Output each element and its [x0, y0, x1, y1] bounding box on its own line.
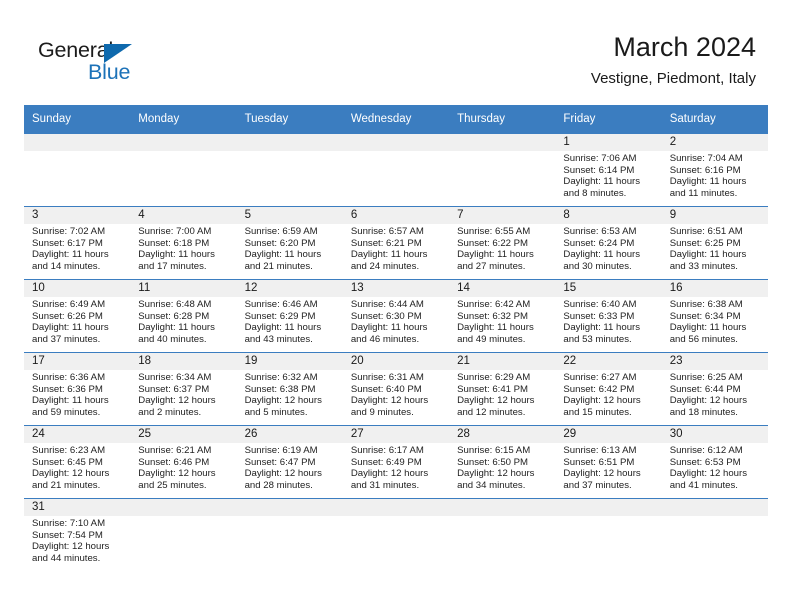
- day-cell-inner: 5Sunrise: 6:59 AMSunset: 6:20 PMDaylight…: [237, 207, 343, 279]
- calendar-day-cell[interactable]: 28Sunrise: 6:15 AMSunset: 6:50 PMDayligh…: [449, 426, 555, 499]
- sunset-text: Sunset: 6:41 PM: [457, 384, 549, 396]
- day-sun-info: Sunrise: 6:19 AMSunset: 6:47 PMDaylight:…: [237, 443, 343, 491]
- day-number: 13: [343, 280, 449, 297]
- sunrise-text: Sunrise: 6:34 AM: [138, 372, 230, 384]
- day-sun-info: Sunrise: 7:00 AMSunset: 6:18 PMDaylight:…: [130, 224, 236, 272]
- sunrise-text: Sunrise: 6:13 AM: [563, 445, 655, 457]
- day-cell-inner: 4Sunrise: 7:00 AMSunset: 6:18 PMDaylight…: [130, 207, 236, 279]
- day-sun-info: Sunrise: 6:34 AMSunset: 6:37 PMDaylight:…: [130, 370, 236, 418]
- calendar-day-cell[interactable]: 31Sunrise: 7:10 AMSunset: 7:54 PMDayligh…: [24, 499, 130, 572]
- sunrise-text: Sunrise: 6:40 AM: [563, 299, 655, 311]
- day-sun-info: Sunrise: 6:46 AMSunset: 6:29 PMDaylight:…: [237, 297, 343, 345]
- weekday-header-saturday: Saturday: [662, 105, 768, 134]
- calendar-day-cell[interactable]: 8Sunrise: 6:53 AMSunset: 6:24 PMDaylight…: [555, 207, 661, 280]
- day-cell-inner: 27Sunrise: 6:17 AMSunset: 6:49 PMDayligh…: [343, 426, 449, 498]
- calendar-day-cell[interactable]: 9Sunrise: 6:51 AMSunset: 6:25 PMDaylight…: [662, 207, 768, 280]
- day-cell-inner: 31Sunrise: 7:10 AMSunset: 7:54 PMDayligh…: [24, 499, 130, 571]
- day-number: 31: [24, 499, 130, 516]
- calendar-day-cell[interactable]: 16Sunrise: 6:38 AMSunset: 6:34 PMDayligh…: [662, 280, 768, 353]
- sunrise-text: Sunrise: 6:59 AM: [245, 226, 337, 238]
- day-sun-info: Sunrise: 7:10 AMSunset: 7:54 PMDaylight:…: [24, 516, 130, 564]
- day-cell-inner: 25Sunrise: 6:21 AMSunset: 6:46 PMDayligh…: [130, 426, 236, 498]
- calendar-day-cell-empty: [662, 499, 768, 572]
- weekday-header-thursday: Thursday: [449, 105, 555, 134]
- calendar-day-cell[interactable]: 3Sunrise: 7:02 AMSunset: 6:17 PMDaylight…: [24, 207, 130, 280]
- calendar-day-cell[interactable]: 30Sunrise: 6:12 AMSunset: 6:53 PMDayligh…: [662, 426, 768, 499]
- calendar-day-cell[interactable]: 23Sunrise: 6:25 AMSunset: 6:44 PMDayligh…: [662, 353, 768, 426]
- sunset-text: Sunset: 6:49 PM: [351, 457, 443, 469]
- day-number: 17: [24, 353, 130, 370]
- day-sun-info: Sunrise: 6:13 AMSunset: 6:51 PMDaylight:…: [555, 443, 661, 491]
- day-sun-info: Sunrise: 6:48 AMSunset: 6:28 PMDaylight:…: [130, 297, 236, 345]
- sunrise-text: Sunrise: 6:38 AM: [670, 299, 762, 311]
- brand-logo[interactable]: General Blue: [38, 38, 218, 90]
- day-sun-info: Sunrise: 6:59 AMSunset: 6:20 PMDaylight:…: [237, 224, 343, 272]
- day-number: 1: [555, 134, 661, 151]
- sunset-text: Sunset: 6:50 PM: [457, 457, 549, 469]
- sunset-text: Sunset: 6:37 PM: [138, 384, 230, 396]
- sunrise-text: Sunrise: 6:21 AM: [138, 445, 230, 457]
- day-cell-inner: 2Sunrise: 7:04 AMSunset: 6:16 PMDaylight…: [662, 134, 768, 206]
- sunrise-text: Sunrise: 6:27 AM: [563, 372, 655, 384]
- day-sun-info: Sunrise: 6:23 AMSunset: 6:45 PMDaylight:…: [24, 443, 130, 491]
- day-sun-info: Sunrise: 6:38 AMSunset: 6:34 PMDaylight:…: [662, 297, 768, 345]
- day-number: 8: [555, 207, 661, 224]
- day-sun-info: Sunrise: 6:55 AMSunset: 6:22 PMDaylight:…: [449, 224, 555, 272]
- sunrise-text: Sunrise: 7:00 AM: [138, 226, 230, 238]
- day-cell-inner: [343, 134, 449, 206]
- daylight-text: Daylight: 12 hours and 5 minutes.: [245, 395, 337, 418]
- day-sun-info: Sunrise: 6:32 AMSunset: 6:38 PMDaylight:…: [237, 370, 343, 418]
- day-number: 18: [130, 353, 236, 370]
- sunrise-text: Sunrise: 6:57 AM: [351, 226, 443, 238]
- calendar-week-row: 3Sunrise: 7:02 AMSunset: 6:17 PMDaylight…: [24, 207, 768, 280]
- daylight-text: Daylight: 11 hours and 27 minutes.: [457, 249, 549, 272]
- sunset-text: Sunset: 6:46 PM: [138, 457, 230, 469]
- daylight-text: Daylight: 12 hours and 9 minutes.: [351, 395, 443, 418]
- sunrise-text: Sunrise: 7:10 AM: [32, 518, 124, 530]
- day-cell-inner: [449, 134, 555, 206]
- sunrise-text: Sunrise: 6:12 AM: [670, 445, 762, 457]
- sunset-text: Sunset: 7:54 PM: [32, 530, 124, 542]
- day-number: 2: [662, 134, 768, 151]
- page-header: General Blue March 2024 Vestigne, Piedmo…: [0, 0, 792, 100]
- calendar-week-row: 31Sunrise: 7:10 AMSunset: 7:54 PMDayligh…: [24, 499, 768, 572]
- day-sun-info: Sunrise: 6:57 AMSunset: 6:21 PMDaylight:…: [343, 224, 449, 272]
- sunset-text: Sunset: 6:36 PM: [32, 384, 124, 396]
- day-cell-inner: 8Sunrise: 6:53 AMSunset: 6:24 PMDaylight…: [555, 207, 661, 279]
- day-number: 22: [555, 353, 661, 370]
- daylight-text: Daylight: 12 hours and 41 minutes.: [670, 468, 762, 491]
- daylight-text: Daylight: 11 hours and 11 minutes.: [670, 176, 762, 199]
- sunrise-text: Sunrise: 6:25 AM: [670, 372, 762, 384]
- day-number: 11: [130, 280, 236, 297]
- day-sun-info: Sunrise: 6:36 AMSunset: 6:36 PMDaylight:…: [24, 370, 130, 418]
- sunrise-text: Sunrise: 6:53 AM: [563, 226, 655, 238]
- daylight-text: Daylight: 11 hours and 24 minutes.: [351, 249, 443, 272]
- daylight-text: Daylight: 11 hours and 56 minutes.: [670, 322, 762, 345]
- calendar-day-cell[interactable]: 24Sunrise: 6:23 AMSunset: 6:45 PMDayligh…: [24, 426, 130, 499]
- day-cell-inner: 29Sunrise: 6:13 AMSunset: 6:51 PMDayligh…: [555, 426, 661, 498]
- day-number: 12: [237, 280, 343, 297]
- day-cell-inner: [555, 499, 661, 571]
- day-cell-inner: [130, 134, 236, 206]
- daylight-text: Daylight: 12 hours and 31 minutes.: [351, 468, 443, 491]
- calendar-week-row: 1Sunrise: 7:06 AMSunset: 6:14 PMDaylight…: [24, 134, 768, 207]
- day-cell-inner: 17Sunrise: 6:36 AMSunset: 6:36 PMDayligh…: [24, 353, 130, 425]
- day-sun-info: Sunrise: 6:53 AMSunset: 6:24 PMDaylight:…: [555, 224, 661, 272]
- daylight-text: Daylight: 11 hours and 8 minutes.: [563, 176, 655, 199]
- day-cell-inner: 7Sunrise: 6:55 AMSunset: 6:22 PMDaylight…: [449, 207, 555, 279]
- sunset-text: Sunset: 6:14 PM: [563, 165, 655, 177]
- calendar-grid: Sunday Monday Tuesday Wednesday Thursday…: [24, 105, 768, 571]
- sunrise-text: Sunrise: 6:36 AM: [32, 372, 124, 384]
- sunrise-text: Sunrise: 6:32 AM: [245, 372, 337, 384]
- day-cell-inner: 3Sunrise: 7:02 AMSunset: 6:17 PMDaylight…: [24, 207, 130, 279]
- calendar-day-cell[interactable]: 25Sunrise: 6:21 AMSunset: 6:46 PMDayligh…: [130, 426, 236, 499]
- calendar-day-cell[interactable]: 15Sunrise: 6:40 AMSunset: 6:33 PMDayligh…: [555, 280, 661, 353]
- sunset-text: Sunset: 6:44 PM: [670, 384, 762, 396]
- sunrise-text: Sunrise: 6:29 AM: [457, 372, 549, 384]
- sunset-text: Sunset: 6:18 PM: [138, 238, 230, 250]
- day-number: [555, 499, 661, 516]
- day-sun-info: Sunrise: 6:51 AMSunset: 6:25 PMDaylight:…: [662, 224, 768, 272]
- day-sun-info: Sunrise: 6:27 AMSunset: 6:42 PMDaylight:…: [555, 370, 661, 418]
- daylight-text: Daylight: 12 hours and 2 minutes.: [138, 395, 230, 418]
- calendar-day-cell[interactable]: 26Sunrise: 6:19 AMSunset: 6:47 PMDayligh…: [237, 426, 343, 499]
- day-number: 5: [237, 207, 343, 224]
- daylight-text: Daylight: 11 hours and 30 minutes.: [563, 249, 655, 272]
- calendar-week-row: 17Sunrise: 6:36 AMSunset: 6:36 PMDayligh…: [24, 353, 768, 426]
- day-cell-inner: 28Sunrise: 6:15 AMSunset: 6:50 PMDayligh…: [449, 426, 555, 498]
- daylight-text: Daylight: 11 hours and 37 minutes.: [32, 322, 124, 345]
- calendar-day-cell-empty: [343, 134, 449, 207]
- calendar-day-cell-empty: [449, 499, 555, 572]
- weekday-header-tuesday: Tuesday: [237, 105, 343, 134]
- day-number: 10: [24, 280, 130, 297]
- calendar-day-cell[interactable]: 2Sunrise: 7:04 AMSunset: 6:16 PMDaylight…: [662, 134, 768, 207]
- day-cell-inner: [130, 499, 236, 571]
- weekday-header-monday: Monday: [130, 105, 236, 134]
- sunrise-text: Sunrise: 6:44 AM: [351, 299, 443, 311]
- day-number: [130, 499, 236, 516]
- day-cell-inner: 30Sunrise: 6:12 AMSunset: 6:53 PMDayligh…: [662, 426, 768, 498]
- day-number: [449, 134, 555, 151]
- page-title: March 2024: [591, 30, 756, 64]
- sunset-text: Sunset: 6:20 PM: [245, 238, 337, 250]
- day-cell-inner: 20Sunrise: 6:31 AMSunset: 6:40 PMDayligh…: [343, 353, 449, 425]
- daylight-text: Daylight: 11 hours and 43 minutes.: [245, 322, 337, 345]
- sunset-text: Sunset: 6:22 PM: [457, 238, 549, 250]
- day-number: 7: [449, 207, 555, 224]
- day-cell-inner: 1Sunrise: 7:06 AMSunset: 6:14 PMDaylight…: [555, 134, 661, 206]
- day-cell-inner: [237, 134, 343, 206]
- sunset-text: Sunset: 6:29 PM: [245, 311, 337, 323]
- day-sun-info: Sunrise: 7:06 AMSunset: 6:14 PMDaylight:…: [555, 151, 661, 199]
- sunset-text: Sunset: 6:21 PM: [351, 238, 443, 250]
- calendar-day-cell[interactable]: 29Sunrise: 6:13 AMSunset: 6:51 PMDayligh…: [555, 426, 661, 499]
- day-cell-inner: 22Sunrise: 6:27 AMSunset: 6:42 PMDayligh…: [555, 353, 661, 425]
- day-cell-inner: [24, 134, 130, 206]
- calendar-day-cell[interactable]: 12Sunrise: 6:46 AMSunset: 6:29 PMDayligh…: [237, 280, 343, 353]
- daylight-text: Daylight: 12 hours and 21 minutes.: [32, 468, 124, 491]
- day-sun-info: Sunrise: 6:44 AMSunset: 6:30 PMDaylight:…: [343, 297, 449, 345]
- sunrise-text: Sunrise: 6:55 AM: [457, 226, 549, 238]
- sunset-text: Sunset: 6:24 PM: [563, 238, 655, 250]
- sunset-text: Sunset: 6:34 PM: [670, 311, 762, 323]
- sunrise-text: Sunrise: 6:17 AM: [351, 445, 443, 457]
- day-cell-inner: [237, 499, 343, 571]
- daylight-text: Daylight: 11 hours and 17 minutes.: [138, 249, 230, 272]
- sunrise-text: Sunrise: 6:46 AM: [245, 299, 337, 311]
- day-number: [662, 499, 768, 516]
- day-cell-inner: 14Sunrise: 6:42 AMSunset: 6:32 PMDayligh…: [449, 280, 555, 352]
- day-sun-info: Sunrise: 7:02 AMSunset: 6:17 PMDaylight:…: [24, 224, 130, 272]
- day-cell-inner: 23Sunrise: 6:25 AMSunset: 6:44 PMDayligh…: [662, 353, 768, 425]
- day-number: [449, 499, 555, 516]
- calendar-page: General Blue March 2024 Vestigne, Piedmo…: [0, 0, 792, 612]
- calendar-day-cell[interactable]: 27Sunrise: 6:17 AMSunset: 6:49 PMDayligh…: [343, 426, 449, 499]
- daylight-text: Daylight: 11 hours and 53 minutes.: [563, 322, 655, 345]
- day-sun-info: Sunrise: 6:31 AMSunset: 6:40 PMDaylight:…: [343, 370, 449, 418]
- day-number: [343, 499, 449, 516]
- calendar-table: Sunday Monday Tuesday Wednesday Thursday…: [24, 105, 768, 571]
- daylight-text: Daylight: 11 hours and 33 minutes.: [670, 249, 762, 272]
- calendar-day-cell[interactable]: 20Sunrise: 6:31 AMSunset: 6:40 PMDayligh…: [343, 353, 449, 426]
- daylight-text: Daylight: 11 hours and 46 minutes.: [351, 322, 443, 345]
- daylight-text: Daylight: 12 hours and 15 minutes.: [563, 395, 655, 418]
- day-number: 4: [130, 207, 236, 224]
- weekday-header-sunday: Sunday: [24, 105, 130, 134]
- day-cell-inner: 24Sunrise: 6:23 AMSunset: 6:45 PMDayligh…: [24, 426, 130, 498]
- sunrise-text: Sunrise: 6:49 AM: [32, 299, 124, 311]
- calendar-week-row: 24Sunrise: 6:23 AMSunset: 6:45 PMDayligh…: [24, 426, 768, 499]
- day-number: 25: [130, 426, 236, 443]
- title-block: March 2024 Vestigne, Piedmont, Italy: [591, 30, 756, 90]
- calendar-day-cell[interactable]: 1Sunrise: 7:06 AMSunset: 6:14 PMDaylight…: [555, 134, 661, 207]
- day-number: 20: [343, 353, 449, 370]
- day-sun-info: Sunrise: 6:12 AMSunset: 6:53 PMDaylight:…: [662, 443, 768, 491]
- sunrise-text: Sunrise: 6:48 AM: [138, 299, 230, 311]
- daylight-text: Daylight: 12 hours and 18 minutes.: [670, 395, 762, 418]
- daylight-text: Daylight: 12 hours and 28 minutes.: [245, 468, 337, 491]
- day-cell-inner: 13Sunrise: 6:44 AMSunset: 6:30 PMDayligh…: [343, 280, 449, 352]
- day-number: 6: [343, 207, 449, 224]
- day-number: 16: [662, 280, 768, 297]
- calendar-day-cell-empty: [555, 499, 661, 572]
- sunset-text: Sunset: 6:51 PM: [563, 457, 655, 469]
- sunset-text: Sunset: 6:53 PM: [670, 457, 762, 469]
- sunrise-text: Sunrise: 6:31 AM: [351, 372, 443, 384]
- calendar-day-cell[interactable]: 14Sunrise: 6:42 AMSunset: 6:32 PMDayligh…: [449, 280, 555, 353]
- day-number: 27: [343, 426, 449, 443]
- day-cell-inner: 6Sunrise: 6:57 AMSunset: 6:21 PMDaylight…: [343, 207, 449, 279]
- sunrise-text: Sunrise: 6:23 AM: [32, 445, 124, 457]
- day-cell-inner: 12Sunrise: 6:46 AMSunset: 6:29 PMDayligh…: [237, 280, 343, 352]
- calendar-day-cell[interactable]: 10Sunrise: 6:49 AMSunset: 6:26 PMDayligh…: [24, 280, 130, 353]
- daylight-text: Daylight: 11 hours and 49 minutes.: [457, 322, 549, 345]
- sunrise-text: Sunrise: 7:04 AM: [670, 153, 762, 165]
- sunrise-text: Sunrise: 6:51 AM: [670, 226, 762, 238]
- day-sun-info: Sunrise: 6:49 AMSunset: 6:26 PMDaylight:…: [24, 297, 130, 345]
- sunset-text: Sunset: 6:25 PM: [670, 238, 762, 250]
- sunrise-text: Sunrise: 7:06 AM: [563, 153, 655, 165]
- calendar-week-row: 10Sunrise: 6:49 AMSunset: 6:26 PMDayligh…: [24, 280, 768, 353]
- calendar-day-cell[interactable]: 18Sunrise: 6:34 AMSunset: 6:37 PMDayligh…: [130, 353, 236, 426]
- day-number: 14: [449, 280, 555, 297]
- day-number: [130, 134, 236, 151]
- calendar-day-cell[interactable]: 5Sunrise: 6:59 AMSunset: 6:20 PMDaylight…: [237, 207, 343, 280]
- calendar-day-cell[interactable]: 6Sunrise: 6:57 AMSunset: 6:21 PMDaylight…: [343, 207, 449, 280]
- sunset-text: Sunset: 6:40 PM: [351, 384, 443, 396]
- calendar-day-cell[interactable]: 13Sunrise: 6:44 AMSunset: 6:30 PMDayligh…: [343, 280, 449, 353]
- day-sun-info: Sunrise: 6:40 AMSunset: 6:33 PMDaylight:…: [555, 297, 661, 345]
- day-cell-inner: 26Sunrise: 6:19 AMSunset: 6:47 PMDayligh…: [237, 426, 343, 498]
- weekday-header-wednesday: Wednesday: [343, 105, 449, 134]
- day-cell-inner: 21Sunrise: 6:29 AMSunset: 6:41 PMDayligh…: [449, 353, 555, 425]
- sunrise-text: Sunrise: 7:02 AM: [32, 226, 124, 238]
- sunset-text: Sunset: 6:16 PM: [670, 165, 762, 177]
- sunset-text: Sunset: 6:30 PM: [351, 311, 443, 323]
- day-sun-info: Sunrise: 6:25 AMSunset: 6:44 PMDaylight:…: [662, 370, 768, 418]
- daylight-text: Daylight: 12 hours and 12 minutes.: [457, 395, 549, 418]
- sunset-text: Sunset: 6:17 PM: [32, 238, 124, 250]
- day-number: 15: [555, 280, 661, 297]
- calendar-body: 1Sunrise: 7:06 AMSunset: 6:14 PMDaylight…: [24, 134, 768, 572]
- sunset-text: Sunset: 6:38 PM: [245, 384, 337, 396]
- calendar-day-cell[interactable]: 17Sunrise: 6:36 AMSunset: 6:36 PMDayligh…: [24, 353, 130, 426]
- day-number: [343, 134, 449, 151]
- calendar-day-cell[interactable]: 22Sunrise: 6:27 AMSunset: 6:42 PMDayligh…: [555, 353, 661, 426]
- sunset-text: Sunset: 6:26 PM: [32, 311, 124, 323]
- daylight-text: Daylight: 12 hours and 37 minutes.: [563, 468, 655, 491]
- day-cell-inner: 9Sunrise: 6:51 AMSunset: 6:25 PMDaylight…: [662, 207, 768, 279]
- day-number: 21: [449, 353, 555, 370]
- sunset-text: Sunset: 6:42 PM: [563, 384, 655, 396]
- day-number: 19: [237, 353, 343, 370]
- day-number: 3: [24, 207, 130, 224]
- sunrise-text: Sunrise: 6:15 AM: [457, 445, 549, 457]
- day-number: 30: [662, 426, 768, 443]
- weekday-header-friday: Friday: [555, 105, 661, 134]
- day-cell-inner: 15Sunrise: 6:40 AMSunset: 6:33 PMDayligh…: [555, 280, 661, 352]
- calendar-day-cell-empty: [343, 499, 449, 572]
- daylight-text: Daylight: 11 hours and 21 minutes.: [245, 249, 337, 272]
- day-number: 9: [662, 207, 768, 224]
- calendar-day-cell[interactable]: 21Sunrise: 6:29 AMSunset: 6:41 PMDayligh…: [449, 353, 555, 426]
- calendar-day-cell[interactable]: 4Sunrise: 7:00 AMSunset: 6:18 PMDaylight…: [130, 207, 236, 280]
- calendar-day-cell-empty: [237, 499, 343, 572]
- weekday-header-row: Sunday Monday Tuesday Wednesday Thursday…: [24, 105, 768, 134]
- location-subtitle: Vestigne, Piedmont, Italy: [591, 68, 756, 90]
- day-sun-info: Sunrise: 7:04 AMSunset: 6:16 PMDaylight:…: [662, 151, 768, 199]
- calendar-day-cell-empty: [237, 134, 343, 207]
- calendar-day-cell-empty: [130, 134, 236, 207]
- day-cell-inner: 18Sunrise: 6:34 AMSunset: 6:37 PMDayligh…: [130, 353, 236, 425]
- daylight-text: Daylight: 11 hours and 40 minutes.: [138, 322, 230, 345]
- day-cell-inner: [343, 499, 449, 571]
- calendar-day-cell-empty: [449, 134, 555, 207]
- day-cell-inner: 19Sunrise: 6:32 AMSunset: 6:38 PMDayligh…: [237, 353, 343, 425]
- sunset-text: Sunset: 6:32 PM: [457, 311, 549, 323]
- calendar-day-cell[interactable]: 11Sunrise: 6:48 AMSunset: 6:28 PMDayligh…: [130, 280, 236, 353]
- calendar-day-cell[interactable]: 19Sunrise: 6:32 AMSunset: 6:38 PMDayligh…: [237, 353, 343, 426]
- day-number: 26: [237, 426, 343, 443]
- day-number: [237, 134, 343, 151]
- day-sun-info: Sunrise: 6:42 AMSunset: 6:32 PMDaylight:…: [449, 297, 555, 345]
- daylight-text: Daylight: 12 hours and 44 minutes.: [32, 541, 124, 564]
- day-sun-info: Sunrise: 6:17 AMSunset: 6:49 PMDaylight:…: [343, 443, 449, 491]
- sunrise-text: Sunrise: 6:42 AM: [457, 299, 549, 311]
- sunrise-text: Sunrise: 6:19 AM: [245, 445, 337, 457]
- calendar-day-cell-empty: [130, 499, 236, 572]
- daylight-text: Daylight: 11 hours and 14 minutes.: [32, 249, 124, 272]
- day-sun-info: Sunrise: 6:21 AMSunset: 6:46 PMDaylight:…: [130, 443, 236, 491]
- day-cell-inner: 16Sunrise: 6:38 AMSunset: 6:34 PMDayligh…: [662, 280, 768, 352]
- day-cell-inner: [449, 499, 555, 571]
- sunset-text: Sunset: 6:47 PM: [245, 457, 337, 469]
- daylight-text: Daylight: 12 hours and 25 minutes.: [138, 468, 230, 491]
- day-number: 28: [449, 426, 555, 443]
- brand-name-secondary: Blue: [88, 60, 130, 85]
- day-sun-info: Sunrise: 6:29 AMSunset: 6:41 PMDaylight:…: [449, 370, 555, 418]
- daylight-text: Daylight: 11 hours and 59 minutes.: [32, 395, 124, 418]
- day-cell-inner: 10Sunrise: 6:49 AMSunset: 6:26 PMDayligh…: [24, 280, 130, 352]
- day-number: 23: [662, 353, 768, 370]
- sunset-text: Sunset: 6:28 PM: [138, 311, 230, 323]
- day-number: [237, 499, 343, 516]
- day-sun-info: Sunrise: 6:15 AMSunset: 6:50 PMDaylight:…: [449, 443, 555, 491]
- calendar-day-cell-empty: [24, 134, 130, 207]
- day-number: [24, 134, 130, 151]
- day-number: 29: [555, 426, 661, 443]
- day-cell-inner: 11Sunrise: 6:48 AMSunset: 6:28 PMDayligh…: [130, 280, 236, 352]
- day-cell-inner: [662, 499, 768, 571]
- sunset-text: Sunset: 6:45 PM: [32, 457, 124, 469]
- daylight-text: Daylight: 12 hours and 34 minutes.: [457, 468, 549, 491]
- sunset-text: Sunset: 6:33 PM: [563, 311, 655, 323]
- day-number: 24: [24, 426, 130, 443]
- calendar-day-cell[interactable]: 7Sunrise: 6:55 AMSunset: 6:22 PMDaylight…: [449, 207, 555, 280]
